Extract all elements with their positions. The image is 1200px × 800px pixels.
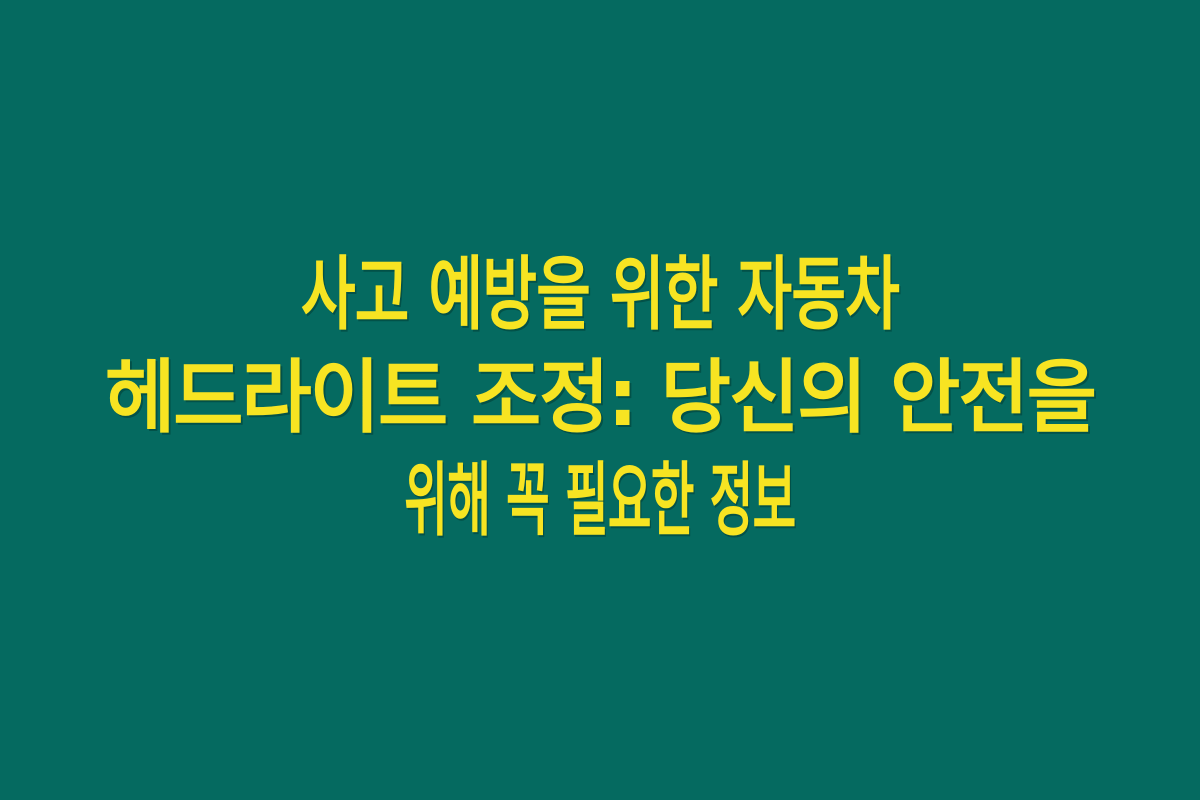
title-line-3: 위해 꼭 필요한 정보 (251, 449, 949, 552)
title-line-1: 사고 예방을 위한 자동차 (163, 243, 1038, 346)
title-line-2: 헤드라이트 조정: 당신의 안전을 (37, 346, 1162, 449)
title-banner: 사고 예방을 위한 자동차 헤드라이트 조정: 당신의 안전을 위해 꼭 필요한… (0, 0, 1200, 800)
page-title: 사고 예방을 위한 자동차 헤드라이트 조정: 당신의 안전을 위해 꼭 필요한… (10, 243, 1190, 558)
